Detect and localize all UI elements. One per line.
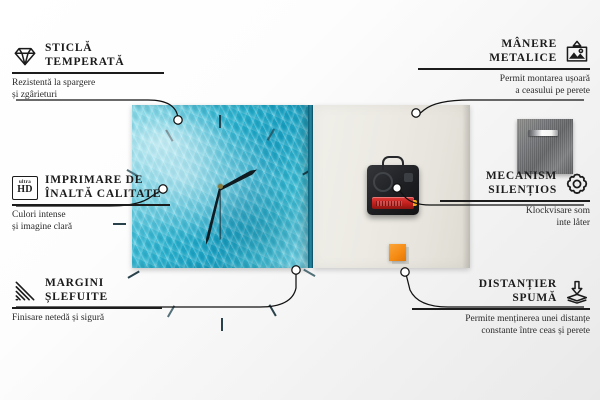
callout-title-line2: SPUMĂ [412,292,557,306]
callout-polished-edges: MARGINI ȘLEFUITE Finisare netedă și sigu… [12,277,162,324]
clock-mechanism [367,165,419,215]
clock-tick [221,259,223,331]
clock-tick [127,241,190,279]
clock-tick [167,254,205,317]
callout-title-line1: IMPRIMARE DE [45,174,161,188]
callout-sub-line2: și zgârieturi [12,89,164,101]
callout-sub-line2: constante între ceas și perete [412,325,590,337]
callout-sub-line2: a ceasului pe perete [418,85,590,97]
clock-tick [165,129,203,192]
infographic-stage: STICLĂ TEMPERATĂ Rezistentă la spargere … [0,0,600,400]
mechanism-button [404,173,413,182]
diamond-icon [12,43,38,69]
callout-title-line1: MARGINI [45,277,108,291]
callout-title-line1: STICLĂ [45,42,124,56]
callout-sub-line2: și imagine clară [12,221,170,233]
beveled-edge-icon [12,278,38,304]
foam-spacer [389,244,406,261]
callout-print-quality: ultra HD IMPRIMARE DE ÎNALTĂ CALITATE Cu… [12,174,170,233]
callout-title-line2: METALICE [418,52,557,66]
callout-title-line1: MÂNERE [418,38,557,52]
callout-rule [12,72,164,73]
down-arrow-foam-icon [564,279,590,305]
battery-label [376,201,402,206]
callout-silent-mechanism: MECANISM SILENȚIOS Klockvisare som inte … [440,170,590,229]
clock-hour-hand [219,167,258,191]
clock-tick [237,128,275,191]
ultra-hd-icon: ultra HD [12,176,38,200]
callout-title-line2: TEMPERATĂ [45,56,124,70]
callout-sub-line1: Permite menținerea unei distanțe [412,313,590,325]
battery [372,197,414,209]
callout-rule [440,200,590,201]
callout-sub-line1: Klockvisare som [440,205,590,217]
callout-tempered-glass: STICLĂ TEMPERATĂ Rezistentă la spargere … [12,42,164,101]
clock-second-hand [219,187,220,239]
callout-sub-line1: Finisare netedă și sigură [12,312,162,324]
callout-rule [412,308,590,309]
callout-rule [12,204,170,205]
clock-center-pin [218,184,223,189]
product-photo [132,105,470,268]
callout-foam-spacer: DISTANȚIER SPUMĂ Permite menținerea unei… [412,278,590,337]
metal-hanger-bracket [517,119,573,174]
callout-title-line1: DISTANȚIER [412,278,557,292]
callout-title-line2: ÎNALTĂ CALITATE [45,188,161,202]
connector-dot-spacer [401,268,409,276]
clock-tick [239,253,277,316]
callout-metal-handles: MÂNERE METALICE Permit montarea ușoară a… [418,38,590,97]
hanging-frame-icon [564,39,590,65]
clock-tick [252,239,315,277]
callout-sub-line1: Permit montarea ușoară [418,73,590,85]
gear-icon [564,171,590,197]
hanger-slot [528,130,558,136]
callout-title-line1: MECANISM [440,170,557,184]
mechanism-dial [373,172,393,192]
clock-tick [251,167,314,205]
callout-rule [12,307,162,308]
clock-tick [219,115,221,187]
callout-sub-line2: inte låter [440,217,590,229]
callout-sub-line1: Culori intense [12,209,170,221]
callout-rule [418,68,590,69]
ultra-hd-icon-main: HD [17,185,33,195]
callout-title-line2: SILENȚIOS [440,184,557,198]
mechanism-hanger-loop [382,156,404,170]
clock-minute-hand [204,188,221,245]
callout-title-line2: ȘLEFUITE [45,291,108,305]
callout-sub-line1: Rezistentă la spargere [12,77,164,89]
